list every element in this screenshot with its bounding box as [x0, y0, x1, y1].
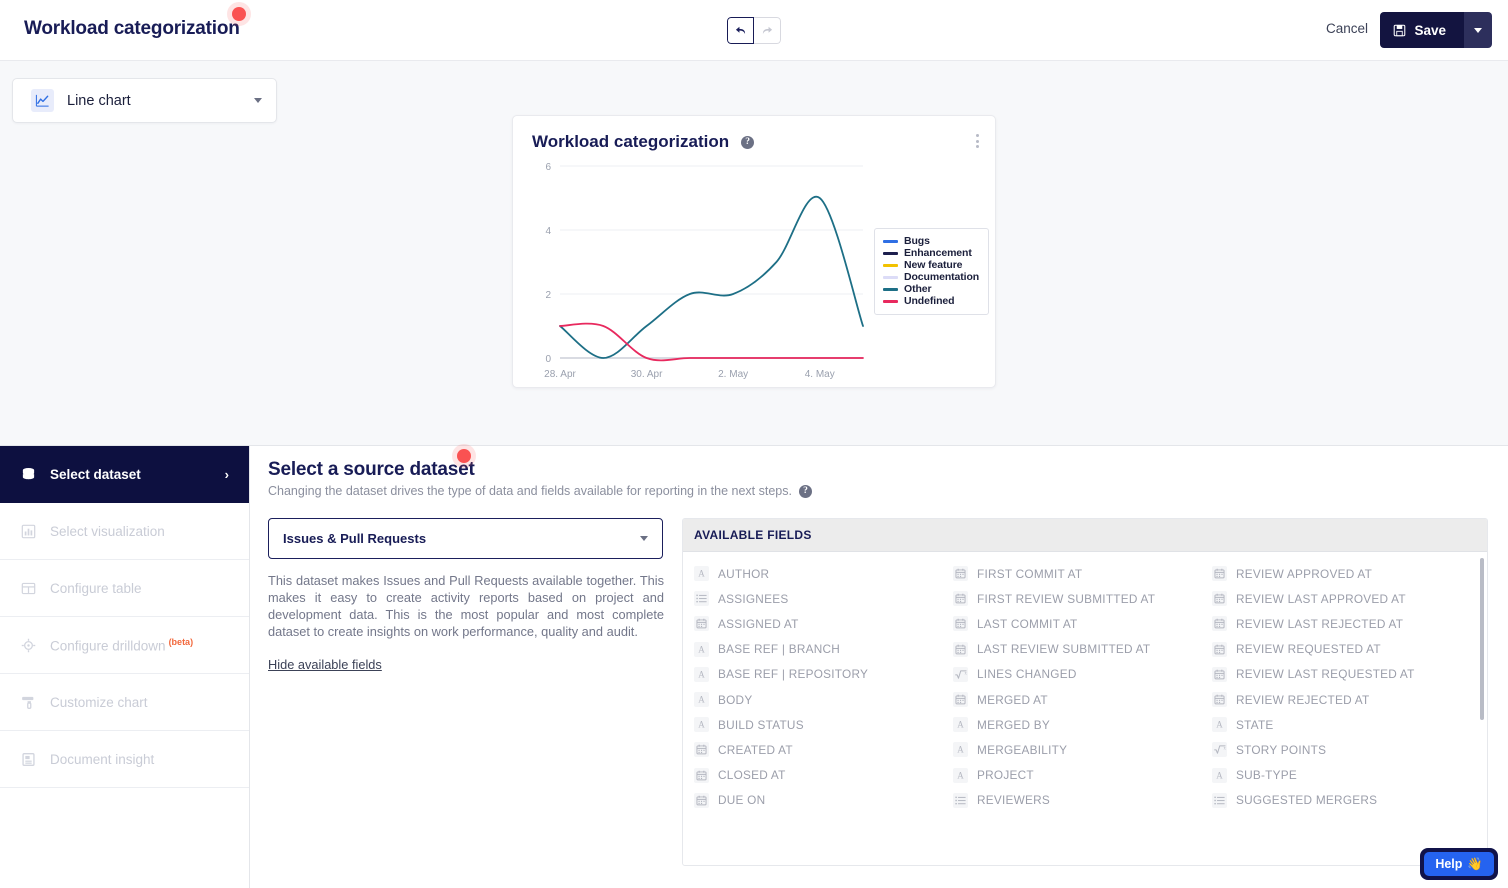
cancel-button[interactable]: Cancel	[1326, 21, 1368, 36]
page-title: Workload categorization	[24, 18, 240, 40]
date-type-icon	[1212, 566, 1227, 581]
field-name: LAST COMMIT AT	[977, 617, 1078, 631]
legend-item[interactable]: Undefined	[883, 295, 979, 307]
sidebar-item-label: Select dataset	[50, 467, 225, 482]
svg-text:A: A	[698, 644, 705, 654]
field-name: REVIEW LAST REJECTED AT	[1236, 617, 1403, 631]
field-name: PROJECT	[977, 768, 1034, 782]
help-circle-icon[interactable]: ?	[799, 485, 812, 498]
field-item[interactable]: REVIEW REQUESTED AT	[1212, 637, 1460, 662]
help-widget[interactable]: Help 👋	[1420, 848, 1498, 880]
svg-text:A: A	[957, 720, 964, 730]
field-item[interactable]: ASSIGNED AT	[694, 611, 942, 636]
section-subheading-text: Changing the dataset drives the type of …	[268, 484, 792, 498]
dataset-select[interactable]: Issues & Pull Requests	[268, 518, 663, 559]
field-item[interactable]: REVIEW LAST REJECTED AT	[1212, 611, 1460, 636]
dataset-description: This dataset makes Issues and Pull Reque…	[268, 572, 664, 640]
date-type-icon	[953, 642, 968, 657]
legend-item[interactable]: Other	[883, 283, 979, 295]
section-subheading: Changing the dataset drives the type of …	[268, 484, 812, 498]
sidebar-item-configure-table: Configure table	[0, 560, 249, 617]
field-item[interactable]: DUE ON	[694, 788, 942, 813]
chevron-down-icon	[1474, 28, 1482, 33]
number-type-icon: x	[953, 667, 968, 682]
chart-canvas-area: Line chart Workload categorization ? 024…	[0, 61, 1508, 446]
field-name: REVIEW APPROVED AT	[1236, 567, 1372, 581]
available-fields-header: AVAILABLE FIELDS	[683, 519, 1487, 552]
toggle-available-fields-link[interactable]: Hide available fields	[268, 657, 382, 672]
field-item[interactable]: AMERGED BY	[953, 712, 1201, 737]
sidebar-item-label: Configure table	[50, 581, 229, 596]
chart-card: Workload categorization ? 024628. Apr30.…	[512, 115, 996, 388]
field-name: FIRST COMMIT AT	[977, 567, 1082, 581]
undo-redo-group	[727, 17, 781, 44]
section-heading: Select a source dataset	[268, 459, 475, 481]
field-item[interactable]: REVIEWERS	[953, 788, 1201, 813]
chevron-down-icon	[254, 98, 262, 103]
field-item[interactable]: AAUTHOR	[694, 561, 942, 586]
date-type-icon	[1212, 692, 1227, 707]
legend-item[interactable]: Bugs	[883, 235, 979, 247]
svg-text:A: A	[698, 569, 705, 579]
legend-item[interactable]: New feature	[883, 259, 979, 271]
y-axis-tick-label: 0	[545, 354, 551, 365]
field-item[interactable]: ASSIGNEES	[694, 586, 942, 611]
svg-text:A: A	[698, 669, 705, 679]
paint-roller-icon	[20, 694, 37, 711]
available-fields-panel: AVAILABLE FIELDS AAUTHORASSIGNEESASSIGNE…	[682, 518, 1488, 866]
fields-column: REVIEW APPROVED ATREVIEW LAST APPROVED A…	[1201, 561, 1460, 813]
svg-text:x: x	[1223, 747, 1226, 752]
series-line	[560, 197, 863, 358]
sidebar-item-label: Configure drilldown(beta)	[50, 637, 229, 654]
date-type-icon	[694, 768, 709, 783]
date-type-icon	[1212, 667, 1227, 682]
field-item[interactable]: ABASE REF | BRANCH	[694, 637, 942, 662]
lower-section: Select dataset›Select visualizationConfi…	[0, 446, 1508, 888]
floppy-disk-icon	[1393, 24, 1406, 37]
legend-label: Documentation	[904, 271, 979, 283]
field-item[interactable]: ASUB-TYPE	[1212, 763, 1460, 788]
available-fields-body: AAUTHORASSIGNEESASSIGNED ATABASE REF | B…	[683, 552, 1487, 866]
field-name: BODY	[718, 693, 752, 707]
date-type-icon	[953, 591, 968, 606]
undo-button[interactable]	[727, 17, 754, 44]
x-axis-tick-label: 28. Apr	[544, 369, 576, 380]
field-name: BASE REF | BRANCH	[718, 642, 840, 656]
field-name: BUILD STATUS	[718, 718, 804, 732]
date-type-icon	[953, 616, 968, 631]
number-type-icon: x	[1212, 742, 1227, 757]
sidebar-item-document-insight: Document insight	[0, 731, 249, 788]
kebab-menu-icon[interactable]	[970, 132, 984, 150]
field-item[interactable]: CREATED AT	[694, 737, 942, 762]
list-type-icon	[694, 591, 709, 606]
table-icon	[20, 580, 37, 597]
text-type-icon: A	[953, 717, 968, 732]
field-item[interactable]: SUGGESTED MERGERS	[1212, 788, 1460, 813]
field-name: ASSIGNED AT	[718, 617, 799, 631]
date-type-icon	[694, 742, 709, 757]
field-item[interactable]: xSTORY POINTS	[1212, 737, 1460, 762]
field-name: MERGEABILITY	[977, 743, 1067, 757]
save-button-group: Save	[1380, 12, 1492, 48]
field-name: MERGED AT	[977, 693, 1048, 707]
book-icon	[20, 751, 37, 768]
dataset-select-value: Issues & Pull Requests	[283, 531, 640, 546]
save-button[interactable]: Save	[1380, 12, 1464, 48]
field-item[interactable]: ASTATE	[1212, 712, 1460, 737]
sidebar-item-label: Customize chart	[50, 695, 229, 710]
legend-color-swatch	[883, 240, 898, 243]
series-line	[560, 324, 863, 361]
fields-scrollbar-thumb[interactable]	[1480, 558, 1484, 720]
field-item[interactable]: ABODY	[694, 687, 942, 712]
waving-hand-icon: 👋	[1467, 857, 1483, 872]
svg-text:A: A	[957, 770, 964, 780]
text-type-icon: A	[953, 768, 968, 783]
date-type-icon	[1212, 591, 1227, 606]
svg-text:A: A	[698, 695, 705, 705]
sidebar-item-label: Document insight	[50, 752, 229, 767]
date-type-icon	[1212, 616, 1227, 631]
sidebar-item-label: Select visualization	[50, 524, 229, 539]
field-name: REVIEW REQUESTED AT	[1236, 642, 1381, 656]
field-name: SUB-TYPE	[1236, 768, 1297, 782]
sidebar-item-select-dataset[interactable]: Select dataset›	[0, 446, 249, 503]
field-name: FIRST REVIEW SUBMITTED AT	[977, 592, 1155, 606]
legend-color-swatch	[883, 252, 898, 255]
list-type-icon	[1212, 793, 1227, 808]
field-item[interactable]: APROJECT	[953, 763, 1201, 788]
field-item[interactable]: CLOSED AT	[694, 763, 942, 788]
sidebar-item-configure-drilldown: Configure drilldown(beta)	[0, 617, 249, 674]
help-circle-icon[interactable]: ?	[741, 136, 754, 149]
field-name: LAST REVIEW SUBMITTED AT	[977, 642, 1150, 656]
legend-color-swatch	[883, 264, 898, 267]
legend-label: Undefined	[904, 295, 954, 307]
text-type-icon: A	[694, 642, 709, 657]
save-options-button[interactable]	[1464, 12, 1492, 48]
field-name: ASSIGNEES	[718, 592, 788, 606]
annotation-dot-title	[232, 7, 246, 21]
field-name: CREATED AT	[718, 743, 793, 757]
field-name: BASE REF | REPOSITORY	[718, 667, 868, 681]
date-type-icon	[953, 692, 968, 707]
bar-chart-icon	[20, 523, 37, 540]
field-item[interactable]: xLINES CHANGED	[953, 662, 1201, 687]
beta-badge: (beta)	[169, 637, 194, 647]
field-name: LINES CHANGED	[977, 667, 1077, 681]
database-icon	[20, 466, 37, 483]
legend-label: Enhancement	[904, 247, 972, 259]
legend-color-swatch	[883, 276, 898, 279]
y-axis-tick-label: 6	[545, 162, 551, 173]
legend-color-swatch	[883, 288, 898, 291]
undo-arrow-icon	[734, 24, 748, 38]
redo-button[interactable]	[754, 17, 781, 44]
field-item[interactable]: AMERGEABILITY	[953, 737, 1201, 762]
text-type-icon: A	[694, 667, 709, 682]
legend-item[interactable]: Documentation	[883, 271, 979, 283]
x-axis-tick-label: 30. Apr	[631, 369, 663, 380]
text-type-icon: A	[953, 742, 968, 757]
legend-label: Other	[904, 283, 932, 295]
date-type-icon	[694, 793, 709, 808]
field-name: REVIEW LAST REQUESTED AT	[1236, 667, 1415, 681]
text-type-icon: A	[1212, 768, 1227, 783]
svg-text:A: A	[1216, 720, 1223, 730]
chevron-right-icon: ›	[225, 467, 229, 482]
field-name: REVIEW LAST APPROVED AT	[1236, 592, 1406, 606]
field-item[interactable]: REVIEW REJECTED AT	[1212, 687, 1460, 712]
app-root: Workload categorization Cancel	[0, 0, 1508, 888]
sidebar-item-select-visualization: Select visualization	[0, 503, 249, 560]
dataset-step-content: Select a source dataset Changing the dat…	[250, 446, 1508, 888]
field-item[interactable]: FIRST COMMIT AT	[953, 561, 1201, 586]
chart-type-dropdown[interactable]: Line chart	[12, 78, 277, 123]
fields-column: AAUTHORASSIGNEESASSIGNED ATABASE REF | B…	[683, 561, 942, 813]
svg-text:A: A	[698, 720, 705, 730]
svg-text:A: A	[957, 745, 964, 755]
field-item[interactable]: REVIEW LAST REQUESTED AT	[1212, 662, 1460, 687]
field-name: MERGED BY	[977, 718, 1050, 732]
field-item[interactable]: FIRST REVIEW SUBMITTED AT	[953, 586, 1201, 611]
field-name: CLOSED AT	[718, 768, 786, 782]
top-bar: Workload categorization Cancel	[0, 0, 1508, 61]
x-axis-tick-label: 2. May	[718, 369, 748, 380]
fields-column: FIRST COMMIT ATFIRST REVIEW SUBMITTED AT…	[942, 561, 1201, 813]
wizard-sidebar: Select dataset›Select visualizationConfi…	[0, 446, 250, 888]
y-axis-tick-label: 2	[545, 290, 551, 301]
text-type-icon: A	[1212, 717, 1227, 732]
field-item[interactable]: LAST REVIEW SUBMITTED AT	[953, 637, 1201, 662]
chart-card-header: Workload categorization ?	[532, 132, 754, 152]
legend-label: Bugs	[904, 235, 930, 247]
text-type-icon: A	[694, 692, 709, 707]
legend-item[interactable]: Enhancement	[883, 247, 979, 259]
list-type-icon	[953, 793, 968, 808]
field-item[interactable]: LAST COMMIT AT	[953, 611, 1201, 636]
legend-color-swatch	[883, 300, 898, 303]
svg-text:x: x	[964, 671, 967, 676]
help-widget-pill[interactable]: Help 👋	[1424, 852, 1494, 876]
field-item[interactable]: ABUILD STATUS	[694, 712, 942, 737]
target-icon	[20, 637, 37, 654]
help-widget-label: Help	[1435, 857, 1462, 871]
field-name: AUTHOR	[718, 567, 769, 581]
annotation-dot-section	[457, 449, 471, 463]
text-type-icon: A	[694, 717, 709, 732]
sidebar-item-customize-chart: Customize chart	[0, 674, 249, 731]
chart-legend: BugsEnhancementNew featureDocumentationO…	[874, 228, 989, 315]
date-type-icon	[1212, 642, 1227, 657]
x-axis-tick-label: 4. May	[805, 369, 835, 380]
field-name: DUE ON	[718, 793, 765, 807]
legend-label: New feature	[904, 259, 962, 271]
y-axis-tick-label: 4	[545, 226, 551, 237]
field-item[interactable]: ABASE REF | REPOSITORY	[694, 662, 942, 687]
chart-type-label: Line chart	[67, 93, 254, 109]
date-type-icon	[953, 566, 968, 581]
text-type-icon: A	[694, 566, 709, 581]
field-item[interactable]: REVIEW LAST APPROVED AT	[1212, 586, 1460, 611]
field-item[interactable]: REVIEW APPROVED AT	[1212, 561, 1460, 586]
field-name: SUGGESTED MERGERS	[1236, 793, 1377, 807]
field-item[interactable]: MERGED AT	[953, 687, 1201, 712]
chart-card-title: Workload categorization	[532, 132, 729, 152]
field-name: REVIEW REJECTED AT	[1236, 693, 1369, 707]
field-name: REVIEWERS	[977, 793, 1050, 807]
line-chart-icon	[31, 89, 54, 112]
svg-text:A: A	[1216, 770, 1223, 780]
date-type-icon	[694, 616, 709, 631]
chevron-down-icon	[640, 536, 648, 541]
save-button-label: Save	[1414, 23, 1446, 38]
redo-arrow-icon	[760, 24, 774, 38]
field-name: STORY POINTS	[1236, 743, 1326, 757]
field-name: STATE	[1236, 718, 1274, 732]
